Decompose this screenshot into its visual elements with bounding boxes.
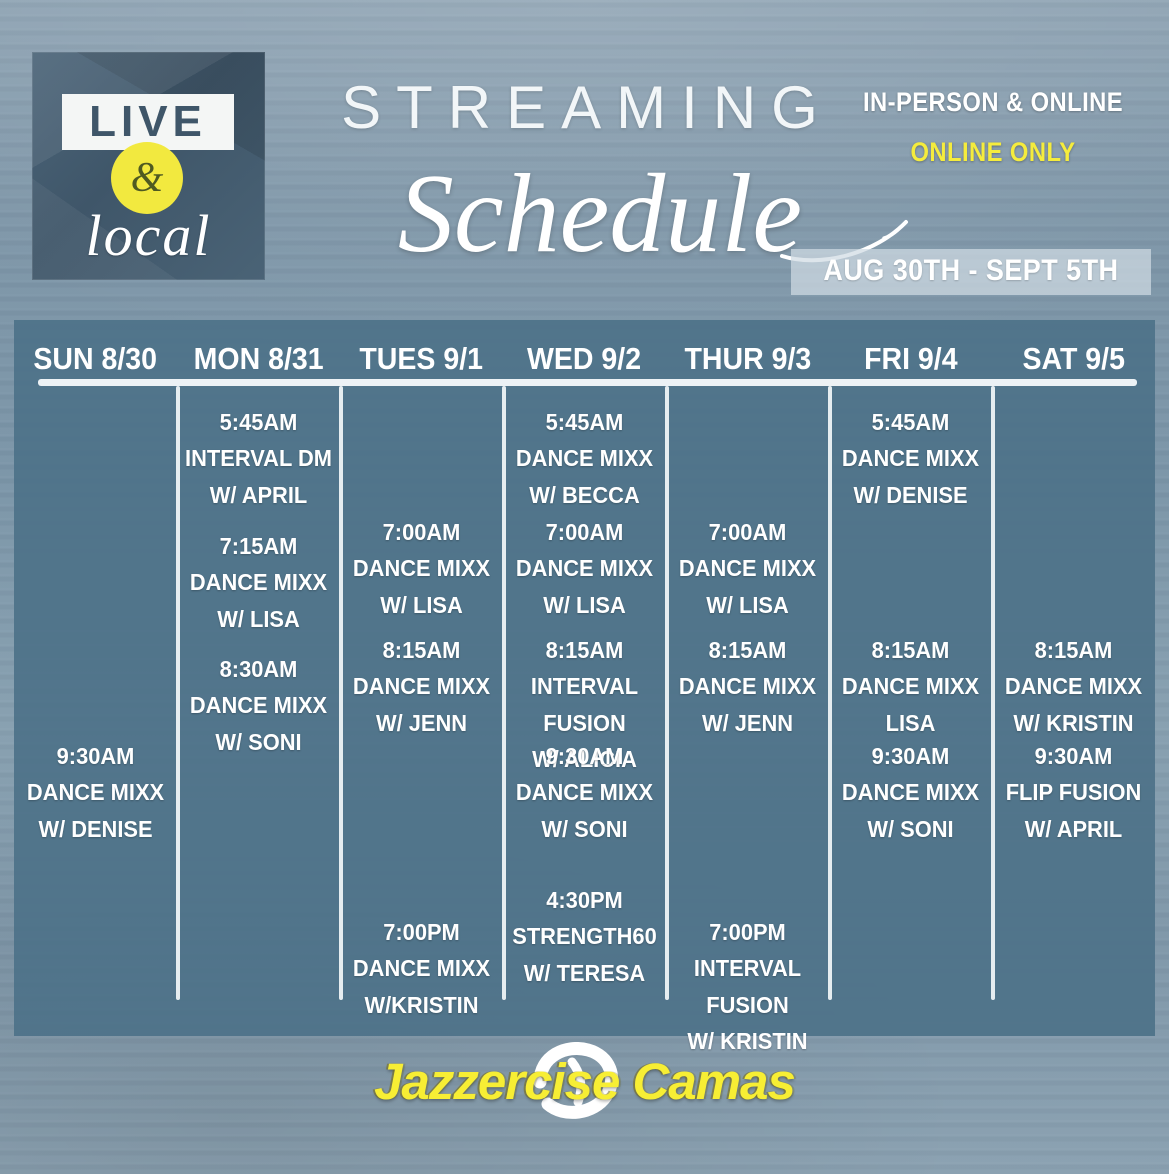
live-and-local-logo: LIVE & local — [32, 52, 265, 280]
class-name: INTERVAL FUSION — [507, 668, 662, 741]
class-instructor: W/ BECCA — [507, 477, 662, 513]
class-instructor: W/KRISTIN — [344, 987, 499, 1023]
class-name: DANCE MIXX — [344, 668, 499, 704]
class-name: DANCE MIXX — [833, 774, 988, 810]
class-instructor: W/ DENISE — [18, 811, 173, 847]
class-slot[interactable]: 9:30AMDANCE MIXXW/ SONI — [503, 738, 666, 847]
header: LIVE & local STREAMING Schedule IN-PERSO… — [0, 0, 1169, 320]
class-instructor: W/ TERESA — [507, 955, 662, 991]
class-instructor: LISA — [833, 705, 988, 741]
class-time: 5:45AM — [507, 404, 662, 440]
class-name: DANCE MIXX — [507, 550, 662, 586]
schedule-panel: SUN 8/309:30AMDANCE MIXXW/ DENISEMON 8/3… — [14, 320, 1155, 1036]
legend: IN-PERSON & ONLINE ONLINE ONLY — [843, 88, 1143, 167]
class-slot[interactable]: 4:30PMSTRENGTH60W/ TERESA — [503, 882, 666, 991]
schedule-column: TUES 9/17:00AMDANCE MIXXW/ LISA8:15AMDAN… — [340, 320, 503, 1036]
date-range-badge: AUG 30TH - SEPT 5TH — [791, 249, 1151, 295]
class-time: 8:15AM — [507, 632, 662, 668]
class-slot[interactable]: 9:30AMDANCE MIXXW/ SONI — [829, 738, 992, 847]
class-time: 5:45AM — [833, 404, 988, 440]
class-slot[interactable]: 5:45AMDANCE MIXXW/ BECCA — [503, 404, 666, 513]
class-slot[interactable]: 7:00AMDANCE MIXXW/ LISA — [340, 514, 503, 623]
class-time: 7:00PM — [344, 914, 499, 950]
date-range-text: AUG 30TH - SEPT 5TH — [824, 254, 1119, 288]
class-time: 7:15AM — [181, 528, 336, 564]
footer-brand: Jazzercise Camas — [0, 1046, 1169, 1116]
class-time: 9:30AM — [833, 738, 988, 774]
logo-live-text: LIVE — [89, 100, 207, 144]
legend-in-person-online: IN-PERSON & ONLINE — [861, 88, 1125, 116]
class-name: DANCE MIXX — [670, 550, 825, 586]
class-name: DANCE MIXX — [18, 774, 173, 810]
class-name: DANCE MIXX — [181, 687, 336, 723]
class-name: INTERVAL DM — [181, 440, 336, 476]
legend-online-only: ONLINE ONLY — [861, 138, 1125, 166]
day-slots: 5:45AMDANCE MIXXW/ BECCA7:00AMDANCE MIXX… — [503, 386, 666, 1036]
day-slots: 8:15AMDANCE MIXXW/ KRISTIN9:30AMFLIP FUS… — [992, 386, 1155, 1036]
logo-ampersand-text: & — [131, 157, 164, 199]
class-name: STRENGTH60 — [507, 918, 662, 954]
class-name: FLIP FUSION — [996, 774, 1151, 810]
class-time: 9:30AM — [507, 738, 662, 774]
class-slot[interactable]: 8:15AMDANCE MIXXW/ JENN — [666, 632, 829, 741]
schedule-column: SUN 8/309:30AMDANCE MIXXW/ DENISE — [14, 320, 177, 1036]
class-instructor: W/ APRIL — [996, 811, 1151, 847]
class-slot[interactable]: 7:00PMINTERVAL FUSIONW/ KRISTIN — [666, 914, 829, 1059]
class-slot[interactable]: 8:30AMDANCE MIXXW/ SONI — [177, 651, 340, 760]
class-time: 8:15AM — [344, 632, 499, 668]
class-slot[interactable]: 8:15AMDANCE MIXXW/ KRISTIN — [992, 632, 1155, 741]
class-time: 7:00AM — [507, 514, 662, 550]
schedule-column: WED 9/25:45AMDANCE MIXXW/ BECCA7:00AMDAN… — [503, 320, 666, 1036]
class-slot[interactable]: 8:15AMDANCE MIXXW/ JENN — [340, 632, 503, 741]
class-name: INTERVAL FUSION — [670, 950, 825, 1023]
class-name: DANCE MIXX — [507, 440, 662, 476]
title-streaming: STREAMING — [322, 78, 852, 138]
day-header: TUES 9/1 — [360, 332, 484, 386]
class-time: 8:15AM — [996, 632, 1151, 668]
class-instructor: W/ KRISTIN — [996, 705, 1151, 741]
class-instructor: W/ LISA — [507, 587, 662, 623]
day-slots: 7:00AMDANCE MIXXW/ LISA8:15AMDANCE MIXXW… — [340, 386, 503, 1036]
logo-local-text: local — [32, 202, 265, 269]
class-slot[interactable]: 5:45AMINTERVAL DMW/ APRIL — [177, 404, 340, 513]
day-slots: 5:45AMDANCE MIXXW/ DENISE8:15AMDANCE MIX… — [829, 386, 992, 1036]
class-instructor: W/ SONI — [181, 724, 336, 760]
class-slot[interactable]: 7:15AMDANCE MIXXW/ LISA — [177, 528, 340, 637]
class-name: DANCE MIXX — [833, 668, 988, 704]
class-slot[interactable]: 9:30AMFLIP FUSIONW/ APRIL — [992, 738, 1155, 847]
class-instructor: W/ LISA — [181, 601, 336, 637]
class-time: 8:30AM — [181, 651, 336, 687]
class-slot[interactable]: 7:00PMDANCE MIXXW/KRISTIN — [340, 914, 503, 1023]
class-name: DANCE MIXX — [344, 550, 499, 586]
class-time: 9:30AM — [18, 738, 173, 774]
schedule-grid: SUN 8/309:30AMDANCE MIXXW/ DENISEMON 8/3… — [14, 320, 1155, 1036]
class-time: 8:15AM — [833, 632, 988, 668]
class-name: DANCE MIXX — [833, 440, 988, 476]
schedule-column: THUR 9/37:00AMDANCE MIXXW/ LISA8:15AMDAN… — [666, 320, 829, 1036]
day-header: SAT 9/5 — [1022, 332, 1124, 386]
class-time: 4:30PM — [507, 882, 662, 918]
schedule-column: FRI 9/45:45AMDANCE MIXXW/ DENISE8:15AMDA… — [829, 320, 992, 1036]
class-name: DANCE MIXX — [344, 950, 499, 986]
schedule-column: SAT 9/58:15AMDANCE MIXXW/ KRISTIN9:30AMF… — [992, 320, 1155, 1036]
brand-text: Jazzercise Camas — [374, 1052, 795, 1111]
class-instructor: W/ LISA — [670, 587, 825, 623]
class-time: 7:00AM — [670, 514, 825, 550]
class-time: 7:00AM — [344, 514, 499, 550]
class-name: DANCE MIXX — [507, 774, 662, 810]
class-name: DANCE MIXX — [996, 668, 1151, 704]
class-instructor: W/ SONI — [833, 811, 988, 847]
day-header: WED 9/2 — [527, 332, 641, 386]
day-header: MON 8/31 — [194, 332, 324, 386]
class-instructor: W/ SONI — [507, 811, 662, 847]
class-time: 9:30AM — [996, 738, 1151, 774]
class-slot[interactable]: 7:00AMDANCE MIXXW/ LISA — [503, 514, 666, 623]
class-slot[interactable]: 5:45AMDANCE MIXXW/ DENISE — [829, 404, 992, 513]
class-name: DANCE MIXX — [181, 564, 336, 600]
class-time: 5:45AM — [181, 404, 336, 440]
class-instructor: W/ APRIL — [181, 477, 336, 513]
class-instructor: W/ DENISE — [833, 477, 988, 513]
day-header: THUR 9/3 — [684, 332, 811, 386]
class-time: 8:15AM — [670, 632, 825, 668]
class-slot[interactable]: 7:00AMDANCE MIXXW/ LISA — [666, 514, 829, 623]
class-slot[interactable]: 9:30AMDANCE MIXXW/ DENISE — [14, 738, 177, 847]
class-slot[interactable]: 8:15AMDANCE MIXXLISA — [829, 632, 992, 741]
day-slots: 5:45AMINTERVAL DMW/ APRIL7:15AMDANCE MIX… — [177, 386, 340, 1036]
class-instructor: W/ LISA — [344, 587, 499, 623]
class-instructor: W/ JENN — [670, 705, 825, 741]
day-slots: 7:00AMDANCE MIXXW/ LISA8:15AMDANCE MIXXW… — [666, 386, 829, 1036]
class-name: DANCE MIXX — [670, 668, 825, 704]
day-header: SUN 8/30 — [34, 332, 158, 386]
day-slots: 9:30AMDANCE MIXXW/ DENISE — [14, 386, 177, 1036]
class-time: 7:00PM — [670, 914, 825, 950]
schedule-column: MON 8/315:45AMINTERVAL DMW/ APRIL7:15AMD… — [177, 320, 340, 1036]
class-instructor: W/ JENN — [344, 705, 499, 741]
day-header: FRI 9/4 — [864, 332, 958, 386]
